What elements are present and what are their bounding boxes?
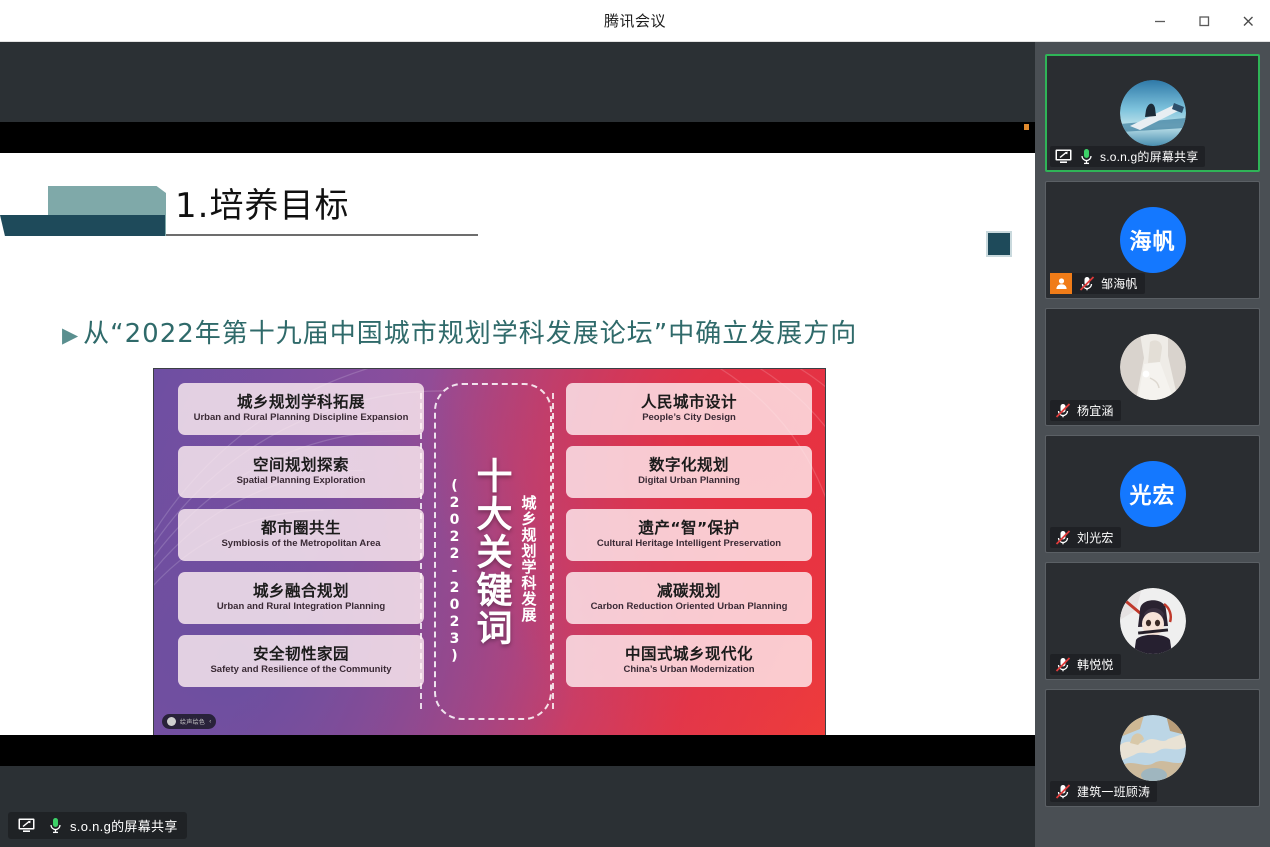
chevron-left-icon: ‹ xyxy=(209,719,211,725)
microphone-on-icon xyxy=(46,817,64,834)
participant-name: s.o.n.g的屏幕共享 xyxy=(1100,148,1198,165)
white-dress-photo xyxy=(1120,334,1186,400)
participant-name: 邹海帆 xyxy=(1101,275,1138,292)
avatar: 海帆 xyxy=(1120,207,1186,273)
avatar xyxy=(1120,334,1186,400)
connector-right xyxy=(552,393,566,709)
close-button[interactable] xyxy=(1226,0,1270,42)
meeting-body: 1.培养目标 ▶从“2022年第十九届中国城市规划学科发展论坛”中确立发展方向 xyxy=(0,42,1270,847)
keyword-en: China’s Urban Modernization xyxy=(572,665,806,675)
keyword-card: 数字化规划 Digital Urban Planning xyxy=(566,446,812,498)
participant-rail[interactable]: s.o.n.g的屏幕共享 海帆 xyxy=(1035,42,1270,847)
keyword-cn: 空间规划探索 xyxy=(184,457,418,474)
avatar-initials: 海帆 xyxy=(1129,224,1175,256)
slide-decoration-dark xyxy=(0,215,165,236)
keyword-cn: 人民城市设计 xyxy=(572,394,806,411)
keyword-en: Symbiosis of the Metropolitan Area xyxy=(184,539,418,549)
stage-bottom-black-band xyxy=(0,735,1035,766)
participant-name: 杨宜涵 xyxy=(1077,402,1114,419)
keyword-cn: 城乡融合规划 xyxy=(184,583,418,600)
keyword-en: Urban and Rural Planning Discipline Expa… xyxy=(184,413,418,423)
keyword-cn: 城乡规划学科拓展 xyxy=(184,394,418,411)
participant-tile[interactable]: 韩悦悦 xyxy=(1045,562,1260,680)
keyword-en: Cultural Heritage Intelligent Preservati… xyxy=(572,539,806,549)
slide-subtitle: 从“2022年第十九届中国城市规划学科发展论坛”中确立发展方向 xyxy=(83,319,857,349)
slide-title-underline xyxy=(166,234,478,236)
keyword-cn: 中国式城乡现代化 xyxy=(572,646,806,663)
microphone-muted-icon xyxy=(1054,656,1072,673)
keyword-card: 中国式城乡现代化 China’s Urban Modernization xyxy=(566,635,812,687)
center-main-title: 十大关键词 xyxy=(465,457,517,647)
participant-tile[interactable]: 杨宜涵 xyxy=(1045,308,1260,426)
sky-fresco-photo xyxy=(1120,715,1186,781)
maximize-button[interactable] xyxy=(1182,0,1226,42)
avatar-initials: 光宏 xyxy=(1129,478,1175,510)
participant-tile[interactable]: 光宏 刘光宏 xyxy=(1045,435,1260,553)
keyword-en: Spatial Planning Exploration xyxy=(184,476,418,486)
presentation-slide: 1.培养目标 ▶从“2022年第十九届中国城市规划学科发展论坛”中确立发展方向 xyxy=(0,153,1035,735)
center-keyword-panel: (2022-2023) 十大关键词 城乡规划学科发展 xyxy=(434,383,552,720)
participant-label: 杨宜涵 xyxy=(1050,400,1121,421)
slide-title: 1.培养目标 xyxy=(175,178,349,227)
keyword-cn: 数字化规划 xyxy=(572,457,806,474)
stage-top-black-band xyxy=(0,122,1035,153)
slide-decoration-square xyxy=(986,231,1012,257)
keyword-en: Carbon Reduction Oriented Urban Planning xyxy=(572,602,806,612)
keyword-cn: 都市圈共生 xyxy=(184,520,418,537)
tencent-meeting-window: 腾讯会议 1.培养目标 xyxy=(0,0,1270,847)
recording-indicator-dot xyxy=(1024,124,1029,130)
participant-label: s.o.n.g的屏幕共享 xyxy=(1050,146,1205,167)
keyword-card: 减碳规划 Carbon Reduction Oriented Urban Pla… xyxy=(566,572,812,624)
avatar xyxy=(1120,588,1186,654)
microphone-muted-icon xyxy=(1054,529,1072,546)
keyword-en: People’s City Design xyxy=(572,413,806,423)
participant-label: 刘光宏 xyxy=(1050,527,1121,548)
keywords-right-column: 人民城市设计 People’s City Design 数字化规划 Digita… xyxy=(566,383,812,687)
microphone-muted-icon xyxy=(1078,275,1096,292)
participant-tile[interactable]: 建筑一班顾涛 xyxy=(1045,689,1260,807)
center-side-title: 城乡规划学科发展 xyxy=(519,481,540,623)
watermark-dot-icon xyxy=(167,717,176,726)
keyword-en: Urban and Rural Integration Planning xyxy=(184,602,418,612)
microphone-muted-icon xyxy=(1054,402,1072,419)
watermark-text: 绘声绘色 xyxy=(180,717,205,726)
keyword-card: 城乡规划学科拓展 Urban and Rural Planning Discip… xyxy=(178,383,424,435)
minimize-button[interactable] xyxy=(1138,0,1182,42)
stage-top-gray-band xyxy=(0,42,1035,122)
microphone-muted-icon xyxy=(1054,783,1072,800)
anime-character-photo xyxy=(1120,588,1186,654)
participant-name: 建筑一班顾涛 xyxy=(1077,783,1150,800)
keyword-card: 都市圈共生 Symbiosis of the Metropolitan Area xyxy=(178,509,424,561)
window-titlebar: 腾讯会议 xyxy=(0,0,1270,42)
participant-name: 韩悦悦 xyxy=(1077,656,1114,673)
keyword-card: 安全韧性家园 Safety and Resilience of the Comm… xyxy=(178,635,424,687)
participant-label: 建筑一班顾涛 xyxy=(1050,781,1157,802)
shared-screen-stage[interactable]: 1.培养目标 ▶从“2022年第十九届中国城市规划学科发展论坛”中确立发展方向 xyxy=(0,42,1035,847)
avatar xyxy=(1120,715,1186,781)
participant-name: 刘光宏 xyxy=(1077,529,1114,546)
infographic-watermark: 绘声绘色 ‹ xyxy=(162,714,216,729)
screen-share-icon xyxy=(16,818,36,833)
keyword-card: 人民城市设计 People’s City Design xyxy=(566,383,812,435)
keyword-en: Digital Urban Planning xyxy=(572,476,806,486)
microphone-on-icon xyxy=(1077,148,1095,165)
participant-label: 邹海帆 xyxy=(1050,273,1145,294)
keyword-card: 遗产“智”保护 Cultural Heritage Intelligent Pr… xyxy=(566,509,812,561)
keyword-card: 城乡融合规划 Urban and Rural Integration Plann… xyxy=(178,572,424,624)
keyword-card: 空间规划探索 Spatial Planning Exploration xyxy=(178,446,424,498)
keyword-cn: 遗产“智”保护 xyxy=(572,520,806,537)
triangle-right-icon: ▶ xyxy=(62,323,79,347)
slide-subtitle-row: ▶从“2022年第十九届中国城市规划学科发展论坛”中确立发展方向 xyxy=(62,313,857,350)
host-person-icon xyxy=(1050,273,1072,294)
participant-tile[interactable]: 海帆 xyxy=(1045,181,1260,299)
stage-share-label-text: s.o.n.g的屏幕共享 xyxy=(70,816,178,835)
participant-tile[interactable]: s.o.n.g的屏幕共享 xyxy=(1045,54,1260,172)
window-controls xyxy=(1138,0,1270,42)
keyword-en: Safety and Resilience of the Community xyxy=(184,665,418,675)
center-years: (2022-2023) xyxy=(447,438,463,665)
keyword-cn: 减碳规划 xyxy=(572,583,806,600)
screen-share-icon xyxy=(1053,149,1073,164)
airplane-wing-photo xyxy=(1120,80,1186,146)
window-title: 腾讯会议 xyxy=(604,10,666,31)
participant-label: 韩悦悦 xyxy=(1050,654,1121,675)
keywords-infographic: 城乡规划学科拓展 Urban and Rural Planning Discip… xyxy=(153,368,826,735)
keywords-left-column: 城乡规划学科拓展 Urban and Rural Planning Discip… xyxy=(178,383,424,687)
keyword-cn: 安全韧性家园 xyxy=(184,646,418,663)
avatar: 光宏 xyxy=(1120,461,1186,527)
avatar xyxy=(1120,80,1186,146)
stage-share-label: s.o.n.g的屏幕共享 xyxy=(8,812,187,839)
